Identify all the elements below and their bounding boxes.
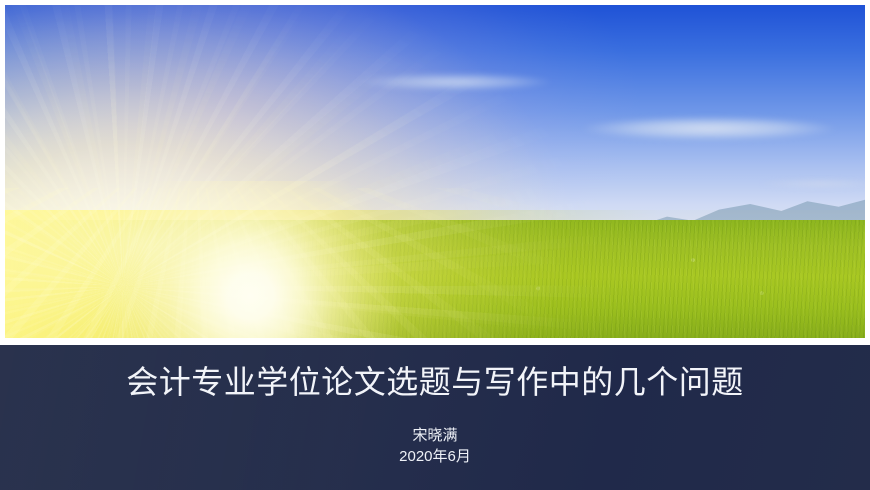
- page-title: 会计专业学位论文选题与写作中的几个问题: [0, 362, 870, 402]
- title-band: 会计专业学位论文选题与写作中的几个问题 宋晓满 2020年6月 宁大MPAcc: [0, 345, 870, 490]
- sun-rays-secondary: [5, 5, 865, 338]
- author-name: 宋晓满: [0, 425, 870, 446]
- subtitle-block: 宋晓满 2020年6月: [0, 425, 870, 467]
- presentation-slide: 会计专业学位论文选题与写作中的几个问题 宋晓满 2020年6月 宁大MPAcc: [0, 0, 870, 490]
- presentation-date: 2020年6月: [0, 446, 870, 467]
- banner-photo: [5, 5, 865, 338]
